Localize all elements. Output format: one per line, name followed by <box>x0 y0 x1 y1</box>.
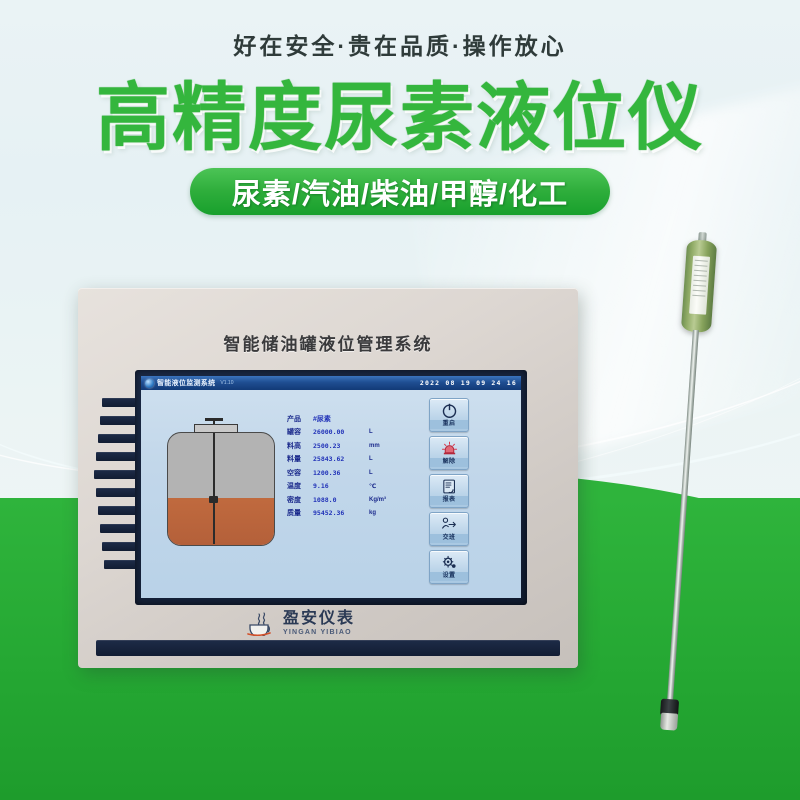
screen-title-version: V1.10 <box>220 380 233 386</box>
hmi-device: 智能储油罐液位管理系统 智能液位监测系统 V1.10 2022 08 19 09… <box>78 288 578 668</box>
readout-row: 空容1200.36L <box>287 466 415 480</box>
tank-diagram <box>161 410 279 550</box>
screen-button-gear[interactable]: 设置 <box>429 550 469 584</box>
tank-liquid-level <box>168 498 274 545</box>
readout-value: 25843.62 <box>313 455 369 463</box>
titlebar-left: 智能液位监测系统 V1.10 <box>145 378 233 388</box>
screen-button-label: 解除 <box>430 458 468 467</box>
page-title: 高精度尿素液位仪 <box>0 76 800 160</box>
readout-unit: kg <box>369 510 403 516</box>
readout-label: 质量 <box>287 508 313 518</box>
screen-button-column: 重启解除报表交班设置 <box>429 398 473 588</box>
readout-row: 产品#尿素 <box>287 412 415 426</box>
advertisement-canvas: 好在安全·贵在品质·操作放心 高精度尿素液位仪 尿素/汽油/柴油/甲醇/化工 智… <box>0 0 800 800</box>
readout-value: 1200.36 <box>313 469 369 477</box>
probe-tip <box>660 713 678 731</box>
readout-unit: L <box>369 456 403 462</box>
screen-titlebar: 智能液位监测系统 V1.10 2022 08 19 09 24 16 <box>141 376 521 390</box>
screen-button-label: 交班 <box>430 534 468 543</box>
screen-title: 智能液位监测系统 <box>157 378 215 388</box>
hmi-screen[interactable]: 智能液位监测系统 V1.10 2022 08 19 09 24 16 产品#尿素… <box>141 376 521 598</box>
screen-button-label: 重启 <box>430 420 468 429</box>
app-logo-icon <box>145 379 154 388</box>
readout-label: 料高 <box>287 441 313 451</box>
coffee-cup-icon <box>246 610 276 636</box>
application-badge: 尿素/汽油/柴油/甲醇/化工 <box>190 168 610 215</box>
probe-rod <box>666 330 699 721</box>
tank-body <box>167 432 275 546</box>
brand-text: 盈安仪表 YINGAN YIBIAO <box>283 611 355 636</box>
readout-label: 产品 <box>287 414 313 424</box>
readout-unit: L <box>369 470 403 476</box>
readout-unit: ℃ <box>369 483 403 490</box>
screen-button-report[interactable]: 报表 <box>429 474 469 508</box>
screen-button-label: 设置 <box>430 572 468 581</box>
level-probe-icon <box>213 418 215 544</box>
readout-value: 9.16 <box>313 482 369 490</box>
brand-name-en: YINGAN YIBIAO <box>283 629 355 636</box>
alarm-bell-icon <box>441 439 458 458</box>
brand-logo: 盈安仪表 YINGAN YIBIAO <box>246 606 416 640</box>
readout-unit: Kg/m³ <box>369 497 403 503</box>
device-panel-label: 智能储油罐液位管理系统 <box>78 330 578 355</box>
measurement-readout-list: 产品#尿素罐容26000.00L料高2500.23mm料量25843.62L空容… <box>287 412 415 520</box>
gear-icon <box>441 553 458 572</box>
readout-label: 罐容 <box>287 427 313 437</box>
readout-row: 料高2500.23mm <box>287 439 415 453</box>
tank-float-marker <box>209 496 218 503</box>
shift-handover-icon <box>440 515 458 534</box>
device-bottom-bar <box>96 640 560 656</box>
power-icon <box>441 401 458 420</box>
readout-label: 温度 <box>287 481 313 491</box>
readout-value: 26000.00 <box>313 428 369 436</box>
readout-row: 密度1088.0Kg/m³ <box>287 493 415 507</box>
report-icon <box>441 477 458 496</box>
screen-button-shift-handover[interactable]: 交班 <box>429 512 469 546</box>
readout-row: 质量95452.36kg <box>287 507 415 521</box>
readout-value: 1088.0 <box>313 496 369 504</box>
tank-flange <box>194 424 238 433</box>
screen-button-alarm-bell[interactable]: 解除 <box>429 436 469 470</box>
readout-unit: L <box>369 429 403 435</box>
readout-label: 空容 <box>287 468 313 478</box>
readout-value: 95452.36 <box>313 509 369 517</box>
readout-label: 料量 <box>287 454 313 464</box>
tagline: 好在安全·贵在品质·操作放心 <box>0 27 800 61</box>
readout-label: 密度 <box>287 495 313 505</box>
readout-value: #尿素 <box>313 414 369 424</box>
readout-row: 罐容26000.00L <box>287 426 415 440</box>
readout-value: 2500.23 <box>313 442 369 450</box>
application-badge-label: 尿素/汽油/柴油/甲醇/化工 <box>232 171 568 213</box>
screen-button-power[interactable]: 重启 <box>429 398 469 432</box>
brand-name-cn: 盈安仪表 <box>283 611 355 627</box>
tank-cap <box>205 418 223 421</box>
readout-row: 温度9.16℃ <box>287 480 415 494</box>
screen-datetime: 2022 08 19 09 24 16 <box>420 379 517 387</box>
readout-unit: mm <box>369 443 403 449</box>
screen-button-label: 报表 <box>430 496 468 505</box>
readout-row: 料量25843.62L <box>287 453 415 467</box>
